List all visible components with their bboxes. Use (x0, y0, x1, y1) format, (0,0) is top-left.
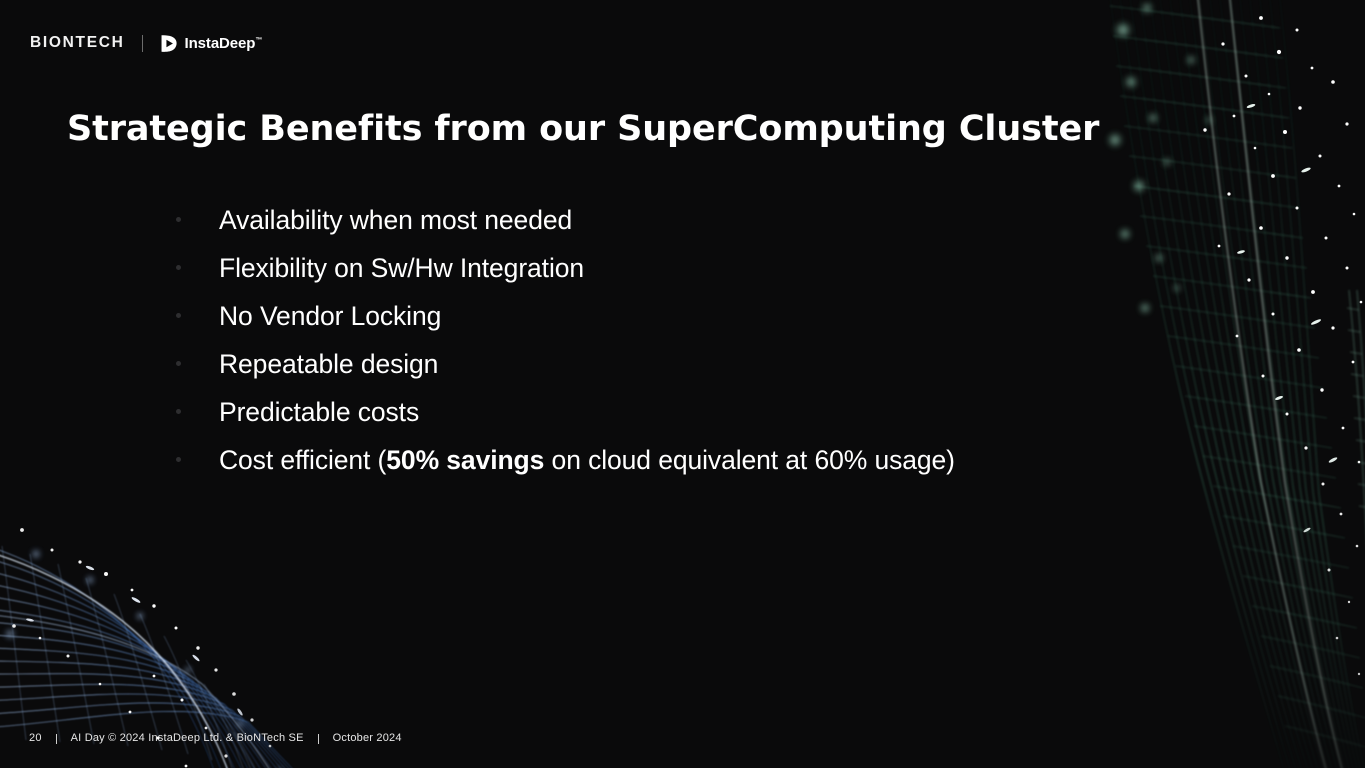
logo-bar: BIONTECH InstaDeep™ (30, 31, 262, 55)
slide-title: Strategic Benefits from our SuperComputi… (67, 109, 1099, 149)
logo-divider (142, 35, 143, 52)
biontech-logo: BIONTECH (30, 35, 125, 52)
list-item-label: No Vendor Locking (219, 303, 441, 330)
bullet-dot-icon (176, 217, 181, 222)
list-item: Flexibility on Sw/Hw Integration (176, 255, 1036, 303)
bullet-dot-icon (176, 361, 181, 366)
list-item-label: Cost efficient (50% savings on cloud equ… (219, 447, 955, 474)
list-item-cost-efficient: Cost efficient (50% savings on cloud equ… (176, 447, 1036, 495)
list-item-label: Repeatable design (219, 351, 438, 378)
bullet-dot-icon (176, 313, 181, 318)
bullet-dot-icon (176, 265, 181, 270)
instadeep-wordmark: InstaDeep™ (185, 36, 263, 51)
bullet-dot-icon (176, 457, 181, 462)
instadeep-text: InstaDeep (185, 35, 256, 52)
benefits-list: Availability when most needed Flexibilit… (176, 207, 1036, 495)
list-item: Availability when most needed (176, 207, 1036, 255)
bullet-dot-icon (176, 409, 181, 414)
footer-divider (318, 734, 319, 744)
list-item-label: Predictable costs (219, 399, 419, 426)
dna-helix-green-artwork (1101, 0, 1365, 768)
list-item: Predictable costs (176, 399, 1036, 447)
list-item-label: Availability when most needed (219, 207, 572, 234)
footer-divider (56, 734, 57, 744)
play-triangle-icon (159, 34, 178, 53)
list-item-label: Flexibility on Sw/Hw Integration (219, 255, 584, 282)
instadeep-logo: InstaDeep™ (159, 34, 263, 53)
cost-text-before: Cost efficient ( (219, 445, 386, 475)
dna-helix-blue-artwork (0, 488, 460, 768)
savings-highlight: 50% savings (386, 445, 544, 475)
copyright-text: AI Day © 2024 InstaDeep Ltd. & BioNTech … (71, 733, 304, 744)
footer-date: October 2024 (333, 733, 402, 744)
list-item: Repeatable design (176, 351, 1036, 399)
slide-root: BIONTECH InstaDeep™ Strategic Benefits f… (0, 0, 1365, 768)
list-item: No Vendor Locking (176, 303, 1036, 351)
cost-text-after: on cloud equivalent at 60% usage) (544, 445, 955, 475)
slide-footer: 20 AI Day © 2024 InstaDeep Ltd. & BioNTe… (29, 733, 402, 744)
trademark-symbol: ™ (255, 37, 262, 44)
page-number: 20 (29, 733, 42, 744)
